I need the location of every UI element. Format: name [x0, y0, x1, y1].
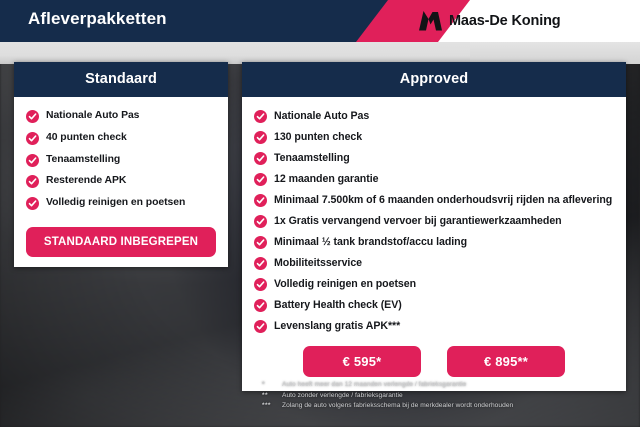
- footnote-marker: *: [262, 380, 282, 391]
- check-circle-icon: [26, 197, 39, 210]
- feature-label: Mobiliteitsservice: [274, 256, 362, 271]
- feature-label: Minimaal ½ tank brandstof/accu lading: [274, 235, 467, 250]
- footnote-marker: ***: [262, 401, 282, 412]
- maas-de-koning-m-logo-icon: [419, 11, 442, 31]
- feature-list-approved: Nationale Auto Pas 130 punten check Tena…: [254, 109, 614, 334]
- package-card-standaard: Standaard Nationale Auto Pas 40 punten c…: [14, 62, 228, 267]
- list-item: 130 punten check: [254, 130, 614, 145]
- standaard-inbegrepen-button[interactable]: STANDAARD INBEGREPEN: [26, 227, 216, 257]
- check-circle-icon: [26, 154, 39, 167]
- footnote-marker: **: [262, 391, 282, 402]
- package-title-approved: Approved: [242, 62, 626, 97]
- check-circle-icon: [254, 173, 267, 186]
- list-item: 1x Gratis vervangend vervoer bij garanti…: [254, 214, 614, 229]
- feature-list-standaard: Nationale Auto Pas 40 punten check Tenaa…: [26, 109, 216, 211]
- brand-name: Maas-De Koning: [449, 13, 561, 29]
- price-button-895[interactable]: € 895**: [447, 346, 565, 377]
- list-item: Nationale Auto Pas: [254, 109, 614, 124]
- footnote-text: Auto heeft meer dan 12 maanden verlengde…: [282, 380, 632, 391]
- list-item: Minimaal ½ tank brandstof/accu lading: [254, 235, 614, 250]
- check-circle-icon: [254, 278, 267, 291]
- package-card-approved: Approved Nationale Auto Pas 130 punten c…: [242, 62, 626, 391]
- price-button-595[interactable]: € 595*: [303, 346, 421, 377]
- feature-label: Resterende APK: [46, 174, 126, 189]
- brand-logo: Maas-De Koning: [419, 11, 561, 31]
- footnote-text: Zolang de auto volgens fabrieksschema bi…: [282, 401, 632, 412]
- list-item: Nationale Auto Pas: [26, 109, 216, 124]
- check-circle-icon: [254, 131, 267, 144]
- feature-label: Levenslang gratis APK***: [274, 319, 400, 334]
- check-circle-icon: [254, 110, 267, 123]
- check-circle-icon: [26, 110, 39, 123]
- footnote-row: ** Auto zonder verlengde / fabrieksgaran…: [262, 391, 632, 402]
- list-item: Minimaal 7.500km of 6 maanden onderhouds…: [254, 193, 614, 208]
- check-circle-icon: [26, 175, 39, 188]
- feature-label: 130 punten check: [274, 130, 362, 145]
- footnote-row: * Auto heeft meer dan 12 maanden verleng…: [262, 380, 632, 391]
- feature-label: Volledig reinigen en poetsen: [46, 196, 185, 211]
- slide-root: Afleverpakketten Maas-De Koning Standaar…: [0, 0, 640, 427]
- footnote-row: *** Zolang de auto volgens fabrieksschem…: [262, 401, 632, 412]
- feature-label: 40 punten check: [46, 131, 127, 146]
- list-item: Volledig reinigen en poetsen: [26, 196, 216, 211]
- background-top-band-right: [470, 42, 640, 64]
- package-body-approved: Nationale Auto Pas 130 punten check Tena…: [242, 97, 626, 391]
- list-item: Resterende APK: [26, 174, 216, 189]
- check-circle-icon: [254, 299, 267, 312]
- feature-label: Volledig reinigen en poetsen: [274, 277, 416, 292]
- page-header: Afleverpakketten Maas-De Koning: [0, 0, 640, 42]
- feature-label: Battery Health check (EV): [274, 298, 402, 313]
- footnote-text: Auto zonder verlengde / fabrieksgarantie: [282, 391, 632, 402]
- list-item: Tenaamstelling: [254, 151, 614, 166]
- list-item: Levenslang gratis APK***: [254, 319, 614, 334]
- package-title-standaard: Standaard: [14, 62, 228, 97]
- page-title: Afleverpakketten: [28, 9, 167, 29]
- check-circle-icon: [254, 152, 267, 165]
- check-circle-icon: [254, 236, 267, 249]
- list-item: Tenaamstelling: [26, 153, 216, 168]
- feature-label: 12 maanden garantie: [274, 172, 378, 187]
- feature-label: Minimaal 7.500km of 6 maanden onderhouds…: [274, 193, 612, 208]
- list-item: Volledig reinigen en poetsen: [254, 277, 614, 292]
- list-item: Battery Health check (EV): [254, 298, 614, 313]
- package-body-standaard: Nationale Auto Pas 40 punten check Tenaa…: [14, 97, 228, 267]
- check-circle-icon: [26, 132, 39, 145]
- footnotes-block: * Auto heeft meer dan 12 maanden verleng…: [262, 380, 632, 412]
- check-circle-icon: [254, 320, 267, 333]
- list-item: 40 punten check: [26, 131, 216, 146]
- list-item: Mobiliteitsservice: [254, 256, 614, 271]
- price-button-row: € 595* € 895**: [254, 346, 614, 377]
- feature-label: Tenaamstelling: [46, 153, 120, 168]
- list-item: 12 maanden garantie: [254, 172, 614, 187]
- feature-label: Tenaamstelling: [274, 151, 350, 166]
- check-circle-icon: [254, 194, 267, 207]
- feature-label: Nationale Auto Pas: [274, 109, 369, 124]
- check-circle-icon: [254, 257, 267, 270]
- feature-label: Nationale Auto Pas: [46, 109, 139, 124]
- feature-label: 1x Gratis vervangend vervoer bij garanti…: [274, 214, 562, 229]
- check-circle-icon: [254, 215, 267, 228]
